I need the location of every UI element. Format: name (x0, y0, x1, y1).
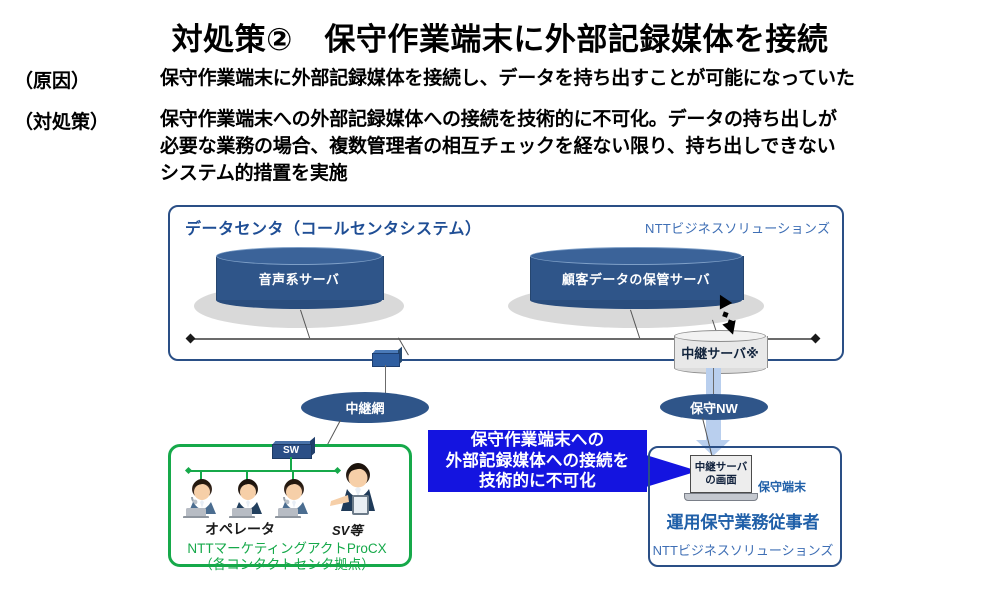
laptop-base (684, 493, 758, 501)
network-relay-label: 中継網 (345, 398, 384, 417)
slide-root: 対処策② 保守作業端末に外部記録媒体を接続 （原因） 保守作業端末に外部記録媒体… (0, 0, 1000, 604)
relay-server: 中継サーバ※ (674, 336, 766, 368)
network-maintenance-label: 保守NW (690, 398, 738, 417)
maintenance-owner: NTTビジネスソリューションズ (648, 540, 838, 559)
network-maintenance: 保守NW (660, 394, 768, 420)
operator-avatar-2 (226, 478, 270, 518)
callout-line-3: 技術的に不可化 (479, 471, 596, 492)
operator-avatar-3 (272, 478, 316, 518)
server-customer-data: 顧客データの保管サーバ (530, 256, 742, 300)
router-icon (372, 350, 402, 365)
laptop-screen-line-1: 中継サーバ (695, 461, 747, 474)
datacenter-title: データセンタ（コールセンタシステム） (185, 215, 482, 239)
laptop-screen-line-2: の画面 (705, 474, 737, 487)
cause-label: （原因） (14, 66, 90, 93)
server-voice-label: 音声系サーバ (216, 256, 382, 300)
measure-text-line3: システム的措置を実施 (160, 161, 347, 187)
callout-line-1: 保守作業端末への (471, 430, 605, 451)
switch-label: SW (272, 444, 310, 457)
switch-icon: SW (272, 441, 316, 457)
measure-label: （対処策） (14, 107, 109, 134)
callout-box: 保守作業端末への 外部記録媒体への接続を 技術的に不可化 (428, 430, 647, 492)
network-relay: 中継網 (301, 392, 429, 423)
callout-line-2: 外部記録媒体への接続を (446, 451, 630, 472)
supervisor-avatar (326, 462, 382, 518)
maintenance-laptop: 中継サーバ の画面 (684, 455, 758, 509)
cause-text: 保守作業端末に外部記録媒体を接続し、データを持ち出すことが可能になっていた (160, 66, 855, 92)
operator-label: オペレータ (205, 519, 275, 539)
maintenance-terminal-label: 保守端末 (758, 478, 806, 495)
operator-avatar-1 (180, 478, 224, 518)
contact-center-bus (188, 470, 338, 472)
server-customer-data-label: 顧客データの保管サーバ (530, 256, 742, 300)
switch-to-bus-line (290, 457, 292, 471)
maintenance-title: 運用保守業務従事者 (648, 508, 838, 533)
relay-to-nw-line (713, 368, 714, 394)
laptop-screen: 中継サーバ の画面 (690, 455, 752, 493)
measure-text-line1: 保守作業端末への外部記録媒体への接続を技術的に不可化。データの持ち出しが (160, 107, 837, 133)
measure-text-line2: 必要な業務の場合、複数管理者の相互チェックを経ない限り、持ち出しできない (160, 134, 835, 160)
datacenter-owner: NTTビジネスソリューションズ (645, 218, 830, 237)
server-voice: 音声系サーバ (216, 256, 382, 300)
page-title: 対処策② 保守作業端末に外部記録媒体を接続 (0, 14, 1000, 59)
relay-server-label: 中継サーバ※ (674, 336, 766, 368)
contact-center-caption-2: （各コンタクトセンタ拠点） (168, 553, 406, 573)
